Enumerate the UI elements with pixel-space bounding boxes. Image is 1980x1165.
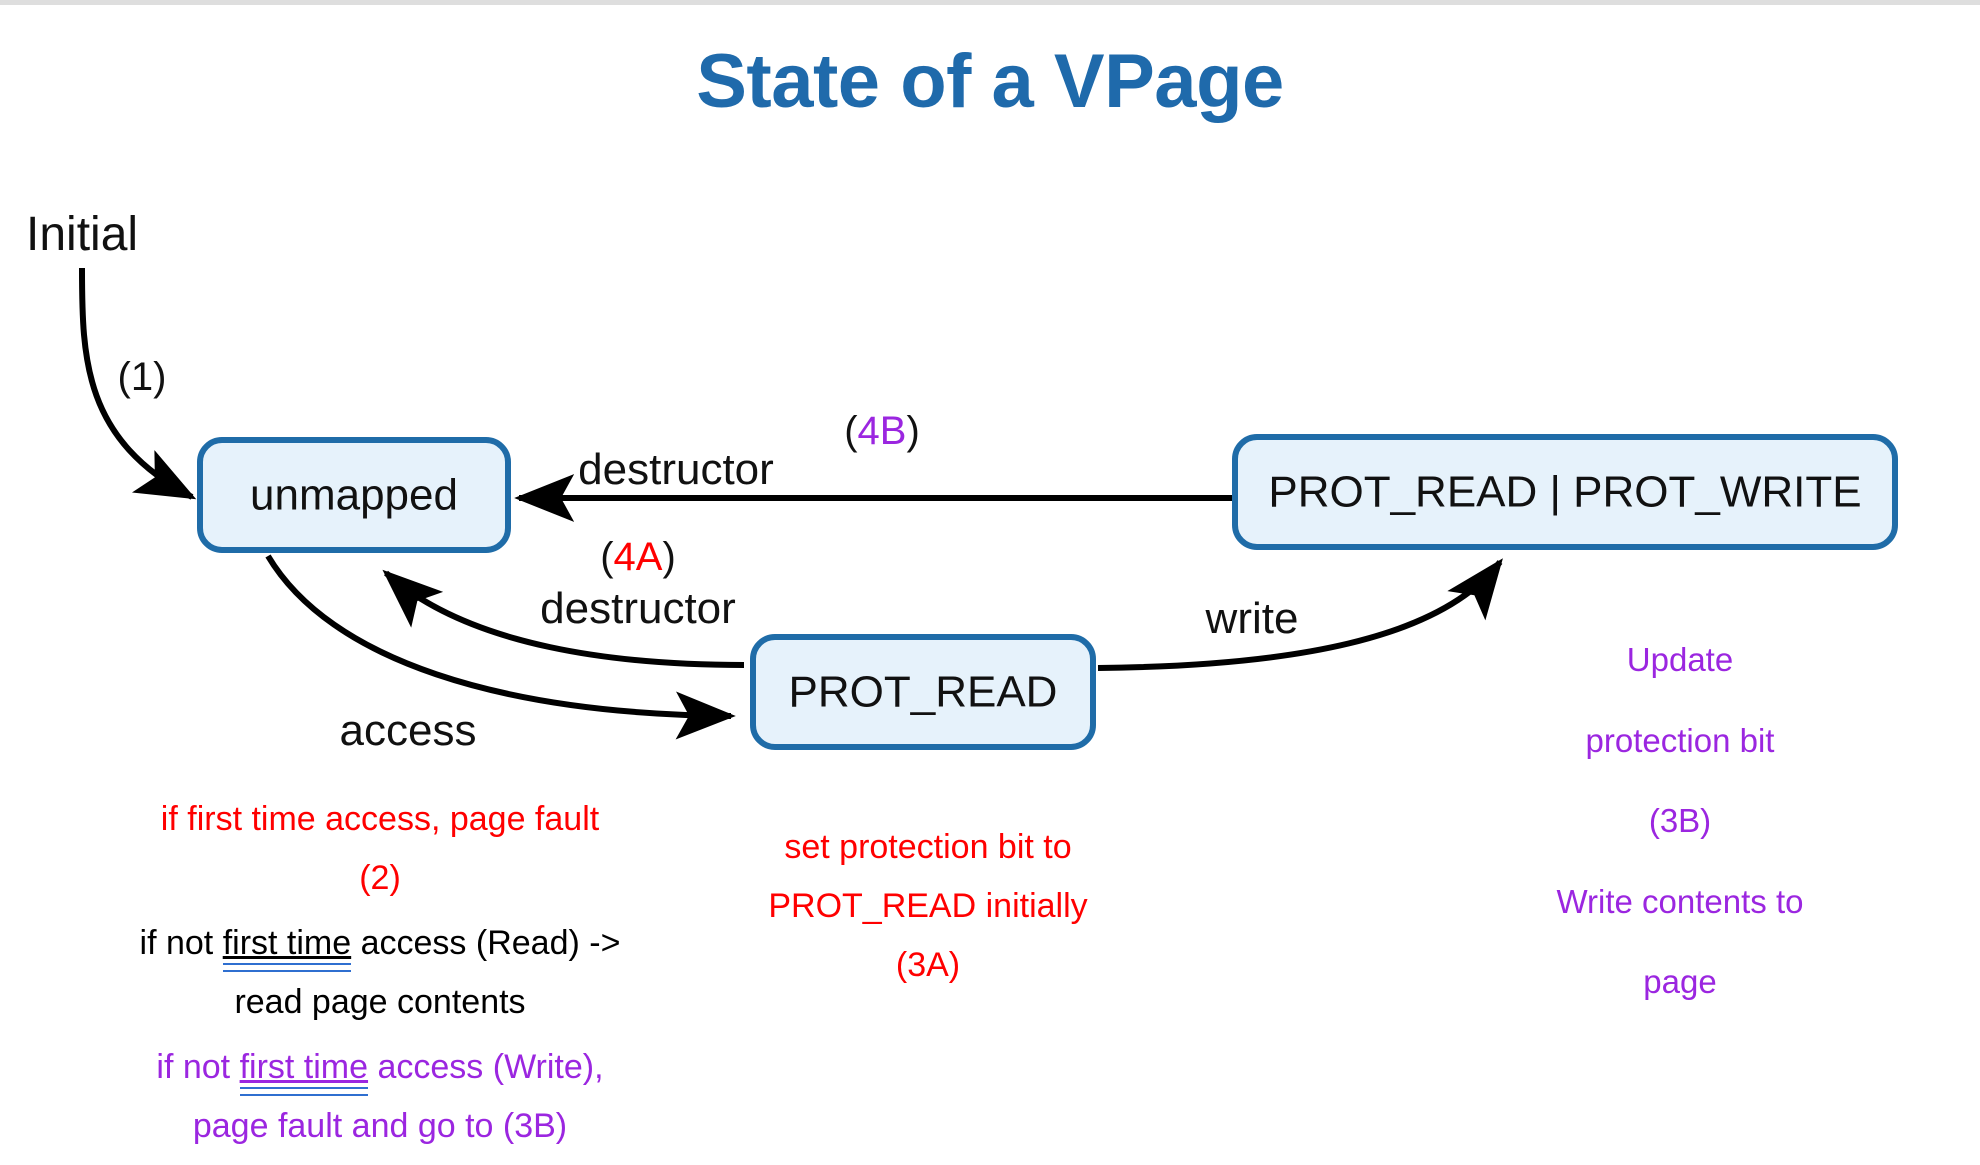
note-right-line3: (3B) xyxy=(1520,801,1840,841)
edge-label-access: access xyxy=(340,706,477,755)
note-right-line5: page xyxy=(1520,962,1840,1002)
edge-tag-4a-number: 4A xyxy=(614,535,663,579)
state-node-unmapped-label: unmapped xyxy=(250,471,458,520)
state-node-prot-read-label: PROT_READ xyxy=(789,668,1058,717)
note-right-line4: Write contents to xyxy=(1520,882,1840,922)
state-node-unmapped[interactable]: unmapped xyxy=(200,440,508,550)
note-left-black-prefix: if not xyxy=(140,924,223,962)
edge-label-destructor-mid: destructor xyxy=(540,584,736,633)
note-left-purple-line2: page fault and go to (3B) xyxy=(110,1106,650,1146)
note-middle-line3: (3A) xyxy=(718,945,1138,985)
note-middle-line1: set protection bit to xyxy=(718,827,1138,867)
note-middle-block: set protection bit to PROT_READ initiall… xyxy=(718,808,1138,1004)
edge-tag-4b-close: ) xyxy=(906,409,919,453)
note-left-red-line1: if first time access, page fault xyxy=(110,799,650,839)
edge-tag-1: (1) xyxy=(118,355,167,399)
slide-canvas: State of a VPage Initial (1) unmapped PR… xyxy=(0,0,1980,1054)
edge-tag-4a-close: ) xyxy=(662,535,675,579)
edge-prot-read-to-prot-rw xyxy=(1098,562,1500,668)
edge-tag-4a: (4A) xyxy=(600,535,676,579)
note-left-purple-line1: if not first time access (Write), xyxy=(110,1047,650,1087)
note-left-block: if first time access, page fault (2) if … xyxy=(110,780,650,1165)
note-left-black-underlined: first time xyxy=(223,923,351,963)
state-node-prot-read-write-label: PROT_READ | PROT_WRITE xyxy=(1268,468,1861,517)
note-left-black-line1: if not first time access (Read) -> xyxy=(110,923,650,963)
note-left-black-line2: read page contents xyxy=(110,982,650,1022)
initial-state-label: Initial xyxy=(26,208,138,261)
state-node-prot-read[interactable]: PROT_READ xyxy=(753,637,1093,747)
edge-tag-4b-open: ( xyxy=(844,409,858,453)
state-node-prot-read-write[interactable]: PROT_READ | PROT_WRITE xyxy=(1235,437,1895,547)
edge-tag-4b: (4B) xyxy=(844,409,920,453)
note-middle-line2: PROT_READ initially xyxy=(718,886,1138,926)
note-right-line2: protection bit xyxy=(1520,721,1840,761)
note-left-red-line2: (2) xyxy=(110,858,650,898)
edge-label-write: write xyxy=(1205,594,1299,643)
note-left-black-suffix: access (Read) -> xyxy=(351,924,620,962)
note-right-block: Update protection bit (3B) Write content… xyxy=(1520,600,1840,1043)
edge-tag-4b-number: 4B xyxy=(858,409,907,453)
edge-label-destructor-top: destructor xyxy=(578,445,774,494)
edge-tag-4a-open: ( xyxy=(600,535,614,579)
note-right-line1: Update xyxy=(1520,640,1840,680)
note-left-purple-underlined: first time xyxy=(240,1047,368,1087)
